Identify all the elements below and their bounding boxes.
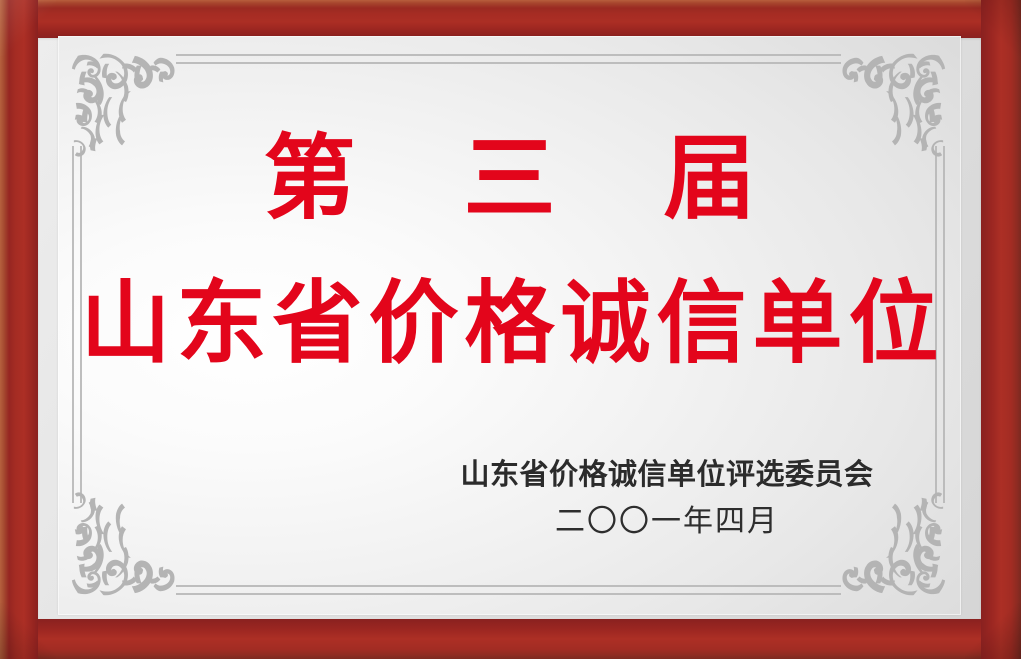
plaque-face: 第 三 届 山东省价格诚信单位 山东省价格诚信单位评选委员会 二〇〇一年四月 [58, 36, 961, 615]
award-plaque: 第 三 届 山东省价格诚信单位 山东省价格诚信单位评选委员会 二〇〇一年四月 [0, 0, 1021, 659]
border-rule-top-inner [176, 62, 841, 64]
border-rule-left-outer [72, 146, 74, 503]
floral-scroll-corner-ornament-icon [66, 46, 184, 164]
plaque-main-line: 山东省价格诚信单位 [58, 278, 961, 368]
border-rule-right-inner [935, 146, 937, 503]
signature-block: 山东省价格诚信单位评选委员会 二〇〇一年四月 [437, 456, 897, 542]
floral-scroll-corner-ornament-icon [833, 485, 951, 603]
border-rule-left-inner [80, 146, 82, 503]
issuing-organization: 山东省价格诚信单位评选委员会 [437, 456, 897, 493]
floral-scroll-corner-ornament-icon [66, 485, 184, 603]
border-rule-bottom-inner [176, 585, 841, 587]
plaque-title-line: 第 三 届 [58, 132, 961, 224]
border-rule-bottom-outer [176, 593, 841, 595]
plaque-text-stack: 第 三 届 山东省价格诚信单位 山东省价格诚信单位评选委员会 二〇〇一年四月 [58, 36, 961, 615]
floral-scroll-corner-ornament-icon [833, 46, 951, 164]
border-rule-right-outer [943, 146, 945, 503]
border-rule-top-outer [176, 54, 841, 56]
issue-date: 二〇〇一年四月 [437, 503, 897, 541]
